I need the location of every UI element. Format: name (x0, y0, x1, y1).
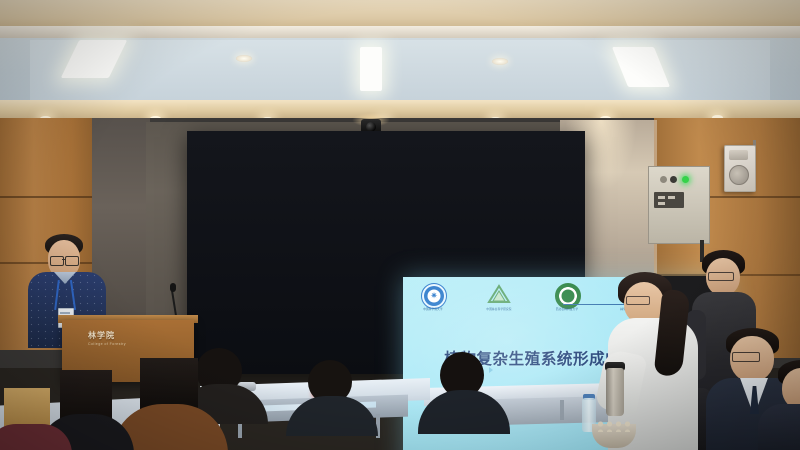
ceiling-downlight-b (492, 58, 508, 65)
podium-microphone-icon (170, 283, 176, 292)
rack-button-icon[interactable] (660, 176, 667, 183)
rack-switch[interactable] (658, 202, 665, 205)
badge-text-line (60, 312, 70, 314)
rack-button-icon[interactable] (670, 176, 677, 183)
ceiling-downlight-a (236, 55, 252, 62)
logo-caption-1: 中国科学院大学 (403, 308, 465, 311)
speaker-tweeter (729, 150, 748, 160)
woman-glasses-icon (626, 296, 650, 305)
ceiling-panel-light-center (360, 47, 382, 91)
snack-items (596, 420, 632, 432)
presenter-glasses-icon (65, 256, 79, 266)
wood-panel-seam (0, 196, 96, 198)
rack-status-led (682, 176, 689, 183)
logo-zhongguo-kexueyuan: ✷ (421, 283, 447, 309)
rack-switch-panel[interactable] (654, 192, 684, 208)
mouse-cursor-icon (489, 367, 493, 373)
podium-signage: 林学院 College of Forestry (88, 330, 168, 346)
speaker-woofer (729, 165, 749, 185)
rack-switch[interactable] (668, 196, 675, 199)
podium-signage-cn: 林学院 (88, 330, 168, 341)
standing-man-glasses-icon (708, 272, 734, 281)
logo-caption-2: 中国林业科学研究院 (467, 308, 531, 311)
presentation-photo-scene: ✷ 中国科学院大学 中国林业科学研究院 西北农林科技大学 林学院 (0, 0, 800, 450)
table-leg (560, 400, 564, 420)
thermos-flask (606, 368, 624, 416)
ceiling-cove-trim (0, 100, 800, 120)
far-right-man-suit (758, 404, 800, 450)
seated-man-glasses-icon (732, 352, 760, 362)
logo-caption-3: 西北农林科技大学 (533, 308, 601, 311)
presenter-glasses-icon (50, 256, 64, 266)
presenter-glasses-bridge (62, 259, 66, 260)
rack-switch[interactable] (658, 196, 665, 199)
podium-signage-en: College of Forestry (88, 342, 168, 346)
slide-logo-row: ✷ 中国科学院大学 中国林业科学研究院 西北农林科技大学 林学院 (415, 283, 597, 313)
logo-xibei-nonglin-keji-daxue (555, 283, 581, 309)
logo-zhongguo-linye-kexue (487, 283, 511, 307)
projection-screen-bezel: ✷ 中国科学院大学 中国林业科学研究院 西北农林科技大学 林学院 (187, 131, 585, 374)
